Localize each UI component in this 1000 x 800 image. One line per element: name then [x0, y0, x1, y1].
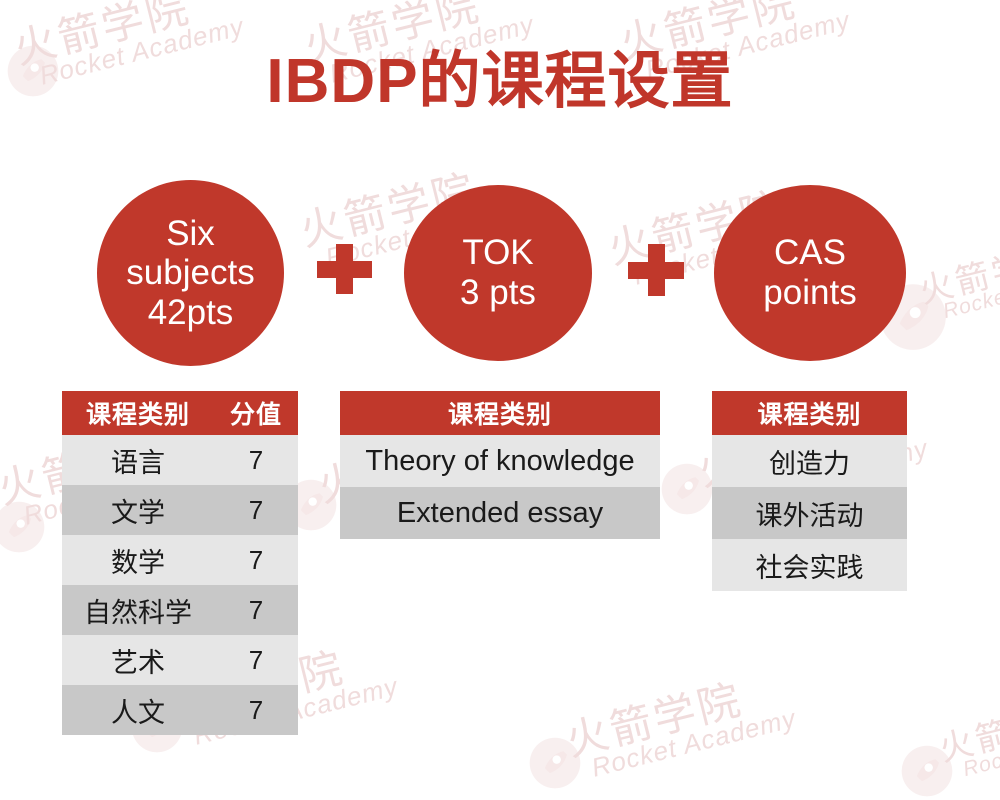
circle-line: CAS [774, 233, 846, 273]
cell-category: 课外活动 [712, 494, 907, 533]
watermark-cn: 火箭学院 [562, 667, 793, 764]
table-row: 社会实践 [712, 539, 907, 591]
table-row: 自然科学 7 [62, 585, 298, 635]
circle-tok: TOK 3 pts [404, 185, 592, 361]
subjects-table: 课程类别 分值 语言 7 文学 7 数学 7 自然科学 7 艺术 7 人文 7 [62, 391, 298, 735]
watermark-cn: 火箭学院 [936, 688, 1000, 768]
rocket-logo-icon [660, 462, 714, 516]
table-row: 创造力 [712, 435, 907, 487]
table-row: 人文 7 [62, 685, 298, 735]
watermark: 火箭学院 Rocket Academy [916, 230, 1000, 326]
cell-score: 7 [214, 645, 298, 676]
page-title: IBDP的课程设置 [0, 48, 1000, 116]
cell-score: 7 [214, 495, 298, 526]
circle-six-subjects: Six subjects 42pts [97, 180, 284, 366]
cell-score: 7 [214, 595, 298, 626]
watermark-cn: 火箭学院 [916, 230, 1000, 310]
circle-line: points [763, 273, 856, 313]
table-row: 课外活动 [712, 487, 907, 539]
tok-table: 课程类别 Theory of knowledge Extended essay [340, 391, 660, 539]
circle-line: subjects [126, 253, 254, 293]
circle-line: 42pts [148, 293, 234, 333]
column-header-category: 课程类别 [340, 395, 660, 431]
cell-category: 文学 [62, 491, 214, 530]
table-row: 文学 7 [62, 485, 298, 535]
slide-canvas: 火箭学院 Rocket Academy 火箭学院 Rocket Academy … [0, 0, 1000, 800]
cell-score: 7 [214, 545, 298, 576]
cell-category: 艺术 [62, 641, 214, 680]
table-row: Extended essay [340, 487, 660, 539]
circle-line: TOK [462, 233, 533, 273]
cell-category: 语言 [62, 441, 214, 480]
cell-score: 7 [214, 445, 298, 476]
table-header-row: 课程类别 [340, 391, 660, 435]
column-header-category: 课程类别 [712, 395, 907, 431]
watermark-en: Rocket Academy [941, 260, 1000, 322]
table-row: 语言 7 [62, 435, 298, 485]
cell-score: 7 [214, 695, 298, 726]
table-row: Theory of knowledge [340, 435, 660, 487]
table-header-row: 课程类别 [712, 391, 907, 435]
table-row: 艺术 7 [62, 635, 298, 685]
table-header-row: 课程类别 分值 [62, 391, 298, 435]
cell-category: 数学 [62, 541, 214, 580]
rocket-logo-icon [900, 744, 954, 798]
circle-line: 3 pts [460, 273, 536, 313]
circle-cas: CAS points [714, 185, 906, 361]
cell-category: 自然科学 [62, 591, 214, 630]
watermark-en: Rocket Academy [961, 718, 1000, 780]
plus-operator-icon [628, 244, 684, 296]
watermark-en: Rocket Academy [589, 705, 799, 781]
column-header-category: 课程类别 [62, 395, 214, 431]
cell-category: 创造力 [712, 442, 907, 481]
cell-category: 社会实践 [712, 546, 907, 585]
cell-category: Theory of knowledge [340, 445, 660, 478]
cell-category: Extended essay [340, 497, 660, 530]
rocket-logo-icon [0, 500, 46, 554]
cas-table: 课程类别 创造力 课外活动 社会实践 [712, 391, 907, 591]
plus-operator-icon [317, 244, 372, 294]
circle-line: Six [166, 214, 215, 254]
column-header-score: 分值 [214, 395, 298, 431]
cell-category: 人文 [62, 691, 214, 730]
table-row: 数学 7 [62, 535, 298, 585]
rocket-logo-icon [528, 736, 582, 790]
watermark: 火箭学院 Rocket Academy [562, 667, 799, 785]
watermark: 火箭学院 Rocket Academy [936, 688, 1000, 784]
